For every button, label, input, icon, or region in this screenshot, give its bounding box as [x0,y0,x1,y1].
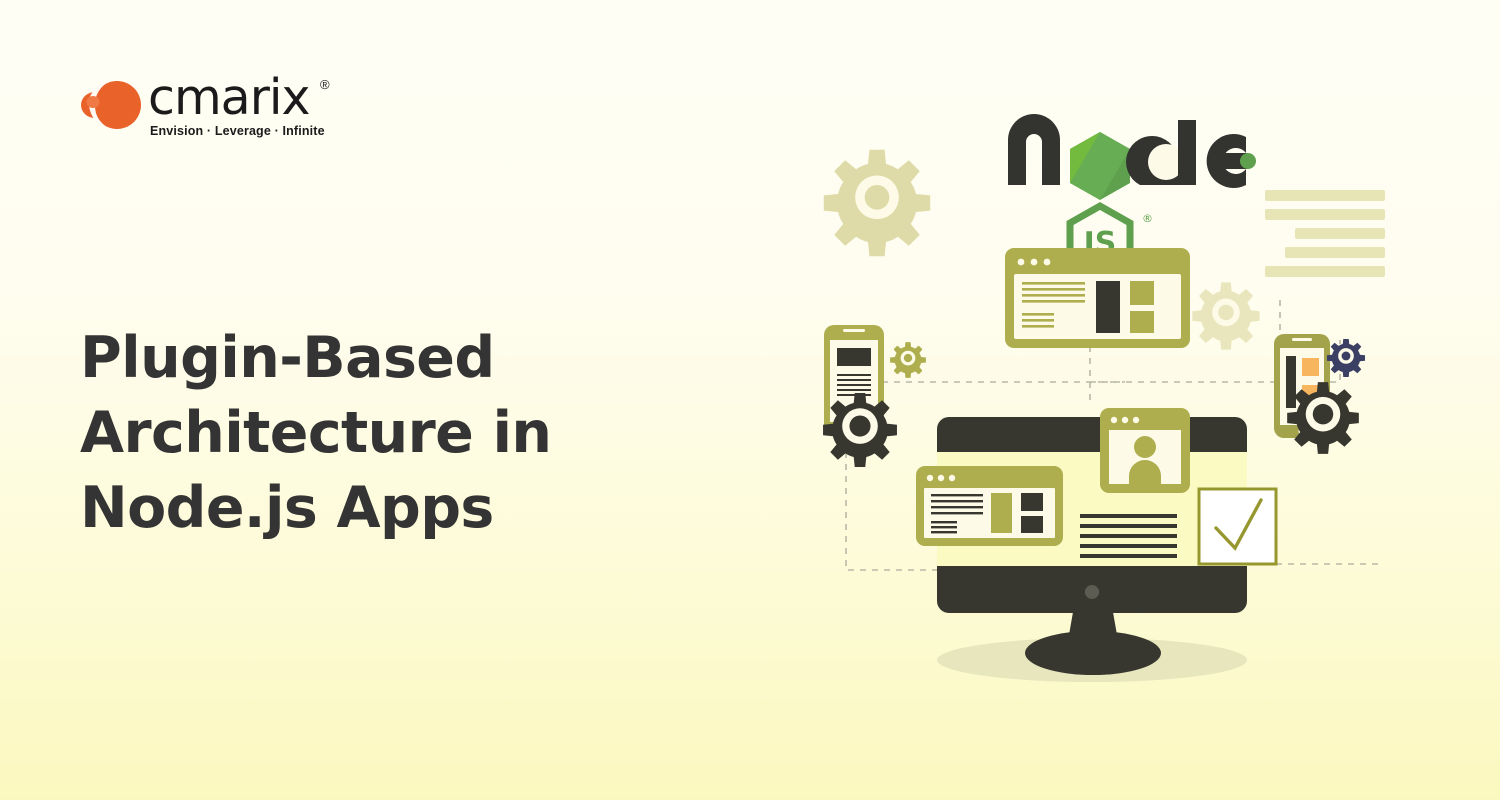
cmarix-tagline: Envision · Leverage · Infinite [150,124,325,138]
decor-lines-top-right [1265,190,1385,277]
page-title-line-2: Architecture in [80,396,720,471]
page-title-line-1: Plugin-Based [80,321,720,396]
cmarix-logo[interactable]: cmarix ® Envision · Leverage · Infinite [80,72,350,142]
page-title-line-3: Node.js Apps [80,471,720,546]
registered-trademark-mark: ® [320,77,330,92]
gear-dark-left [823,393,897,467]
page-title: Plugin-Based Architecture in Node.js App… [80,321,720,546]
browser-window-top[interactable] [1005,248,1190,348]
avatar-window[interactable] [1100,408,1190,493]
gear-pale-right-upper [1192,282,1259,349]
gear-small-olive-left [890,342,926,378]
cmarix-orbit-icon [80,77,142,133]
gear-dark-right [1287,382,1359,454]
checkbox-card[interactable] [1199,489,1276,564]
cmarix-wordmark: cmarix [148,72,309,124]
gear-navy-right [1327,339,1365,377]
svg-text:®: ® [1142,212,1153,225]
banner-root: cmarix ® Envision · Leverage · Infinite … [0,0,1500,800]
hero-illustration: JS ® [780,0,1500,800]
gear-large-khaki-top-left [824,150,930,256]
browser-window-left[interactable] [916,466,1063,546]
